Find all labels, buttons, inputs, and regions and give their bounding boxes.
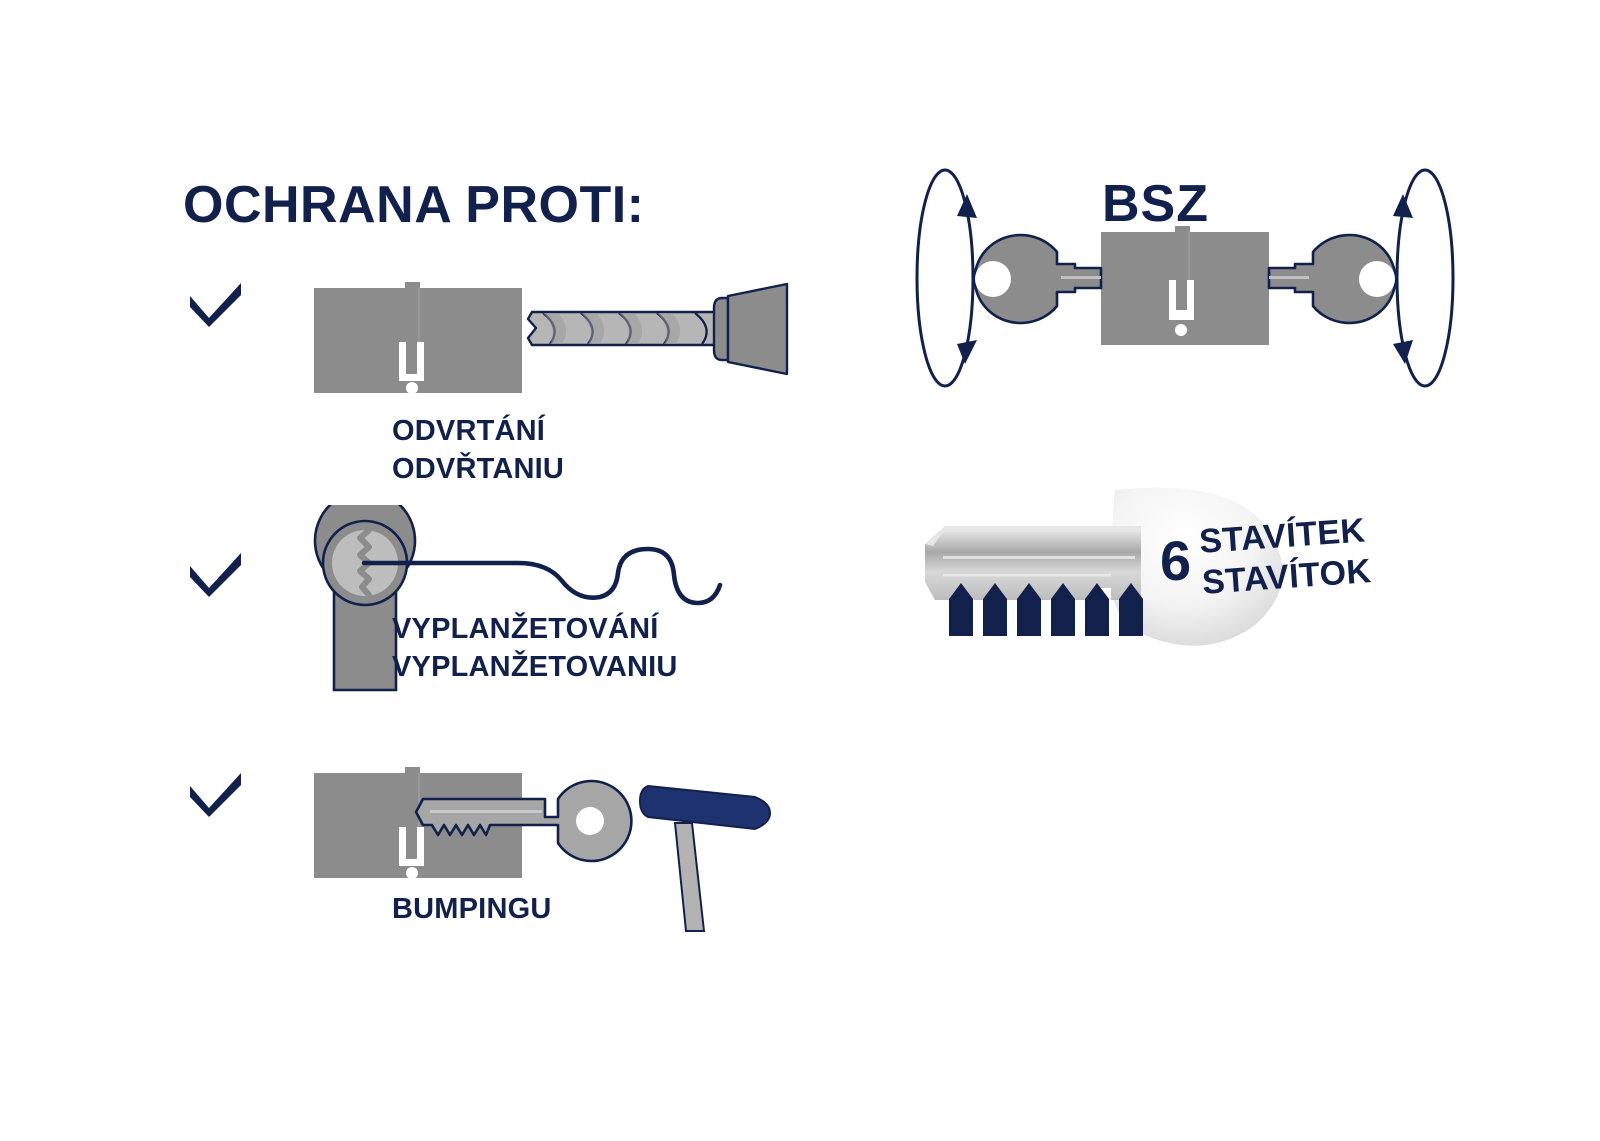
pin-count-number: 6 [1160,528,1191,593]
rotation-arrow-icon [1393,170,1453,386]
checkmark-icon [185,280,247,333]
checkmark-icon [185,550,247,603]
caption-line-cs: ODVRTÁNÍ [392,412,564,450]
hammer [640,786,770,931]
caption-line-cs: BUMPINGU [392,890,552,928]
protection-item-drilling: ODVRTÁNÍ ODVŘTANIU [0,270,820,500]
checkmark-icon [185,770,247,823]
key-left [975,235,1101,323]
caption-line-sk: ODVŘTANIU [392,450,564,488]
lock-body [1101,226,1269,345]
lockpick-wire [364,549,720,603]
key-right [1269,235,1395,323]
caption-line-cs: VYPLANŽETOVÁNÍ [392,610,678,648]
pin-count-labels: STAVÍTEK STAVÍTOK [1198,510,1373,605]
bsz-double-cylinder-illustration [905,160,1465,405]
infographic-canvas: OCHRANA PROTI: [0,0,1600,1141]
rotation-arrow-icon [917,170,977,386]
drill-bit [528,284,787,374]
page-title: OCHRANA PROTI: [183,175,645,235]
caption-lockpicking: VYPLANŽETOVÁNÍ VYPLANŽETOVANIU [392,610,678,687]
right-column: BSZ [820,0,1600,1141]
left-column: OCHRANA PROTI: [0,0,820,1141]
caption-bumping: BUMPINGU [392,890,552,928]
lock-body [314,282,522,394]
caption-line-sk: VYPLANŽETOVANIU [392,648,678,686]
lock-cylinder-key-hammer-illustration [300,755,820,940]
protection-item-bumping: BUMPINGU [0,755,820,985]
lock-cylinder-with-drill-bit-illustration [300,270,800,410]
protection-item-lockpicking: VYPLANŽETOVÁNÍ VYPLANŽETOVANIU [0,505,820,735]
caption-drilling: ODVRTÁNÍ ODVŘTANIU [392,412,564,489]
